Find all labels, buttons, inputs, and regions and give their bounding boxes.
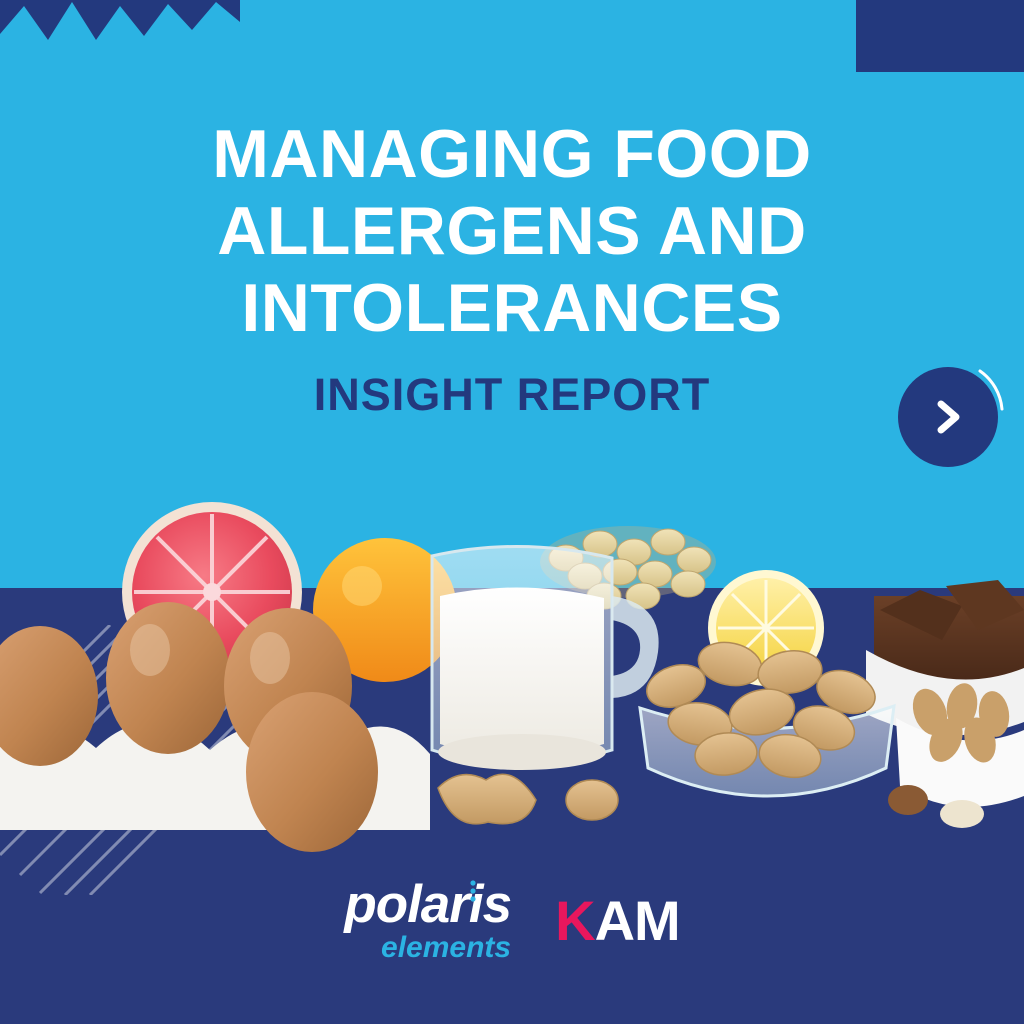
food-loose-peanuts (438, 774, 618, 824)
title-line-2: ALLERGENS AND (217, 193, 807, 269)
polaris-elements-subtext: elements (344, 933, 511, 963)
title-line-1: MANAGING FOOD (212, 116, 812, 192)
kam-logo[interactable]: KAM (555, 893, 680, 949)
next-page-button[interactable] (898, 367, 998, 467)
corner-accent-block (856, 0, 1024, 72)
polaris-dots-icon (466, 880, 480, 902)
zigzag-decoration (0, 0, 240, 48)
logo-row: polaris elements KAM (0, 878, 1024, 963)
page-title: MANAGING FOOD ALLERGENS AND INTOLERANCES (0, 116, 1024, 347)
hero-food-image (0, 500, 1024, 870)
headline-block: MANAGING FOOD ALLERGENS AND INTOLERANCES… (0, 116, 1024, 421)
chevron-right-icon (926, 395, 970, 439)
page-subtitle: INSIGHT REPORT (0, 369, 1024, 421)
title-line-3: INTOLERANCES (241, 270, 782, 346)
kam-am: AM (595, 889, 680, 952)
polaris-wordmark: polaris (344, 878, 511, 931)
food-peanut-bowl (640, 637, 894, 796)
report-cover: MANAGING FOOD ALLERGENS AND INTOLERANCES… (0, 0, 1024, 1024)
polaris-elements-logo[interactable]: polaris elements (344, 878, 511, 963)
kam-k: K (555, 889, 594, 952)
